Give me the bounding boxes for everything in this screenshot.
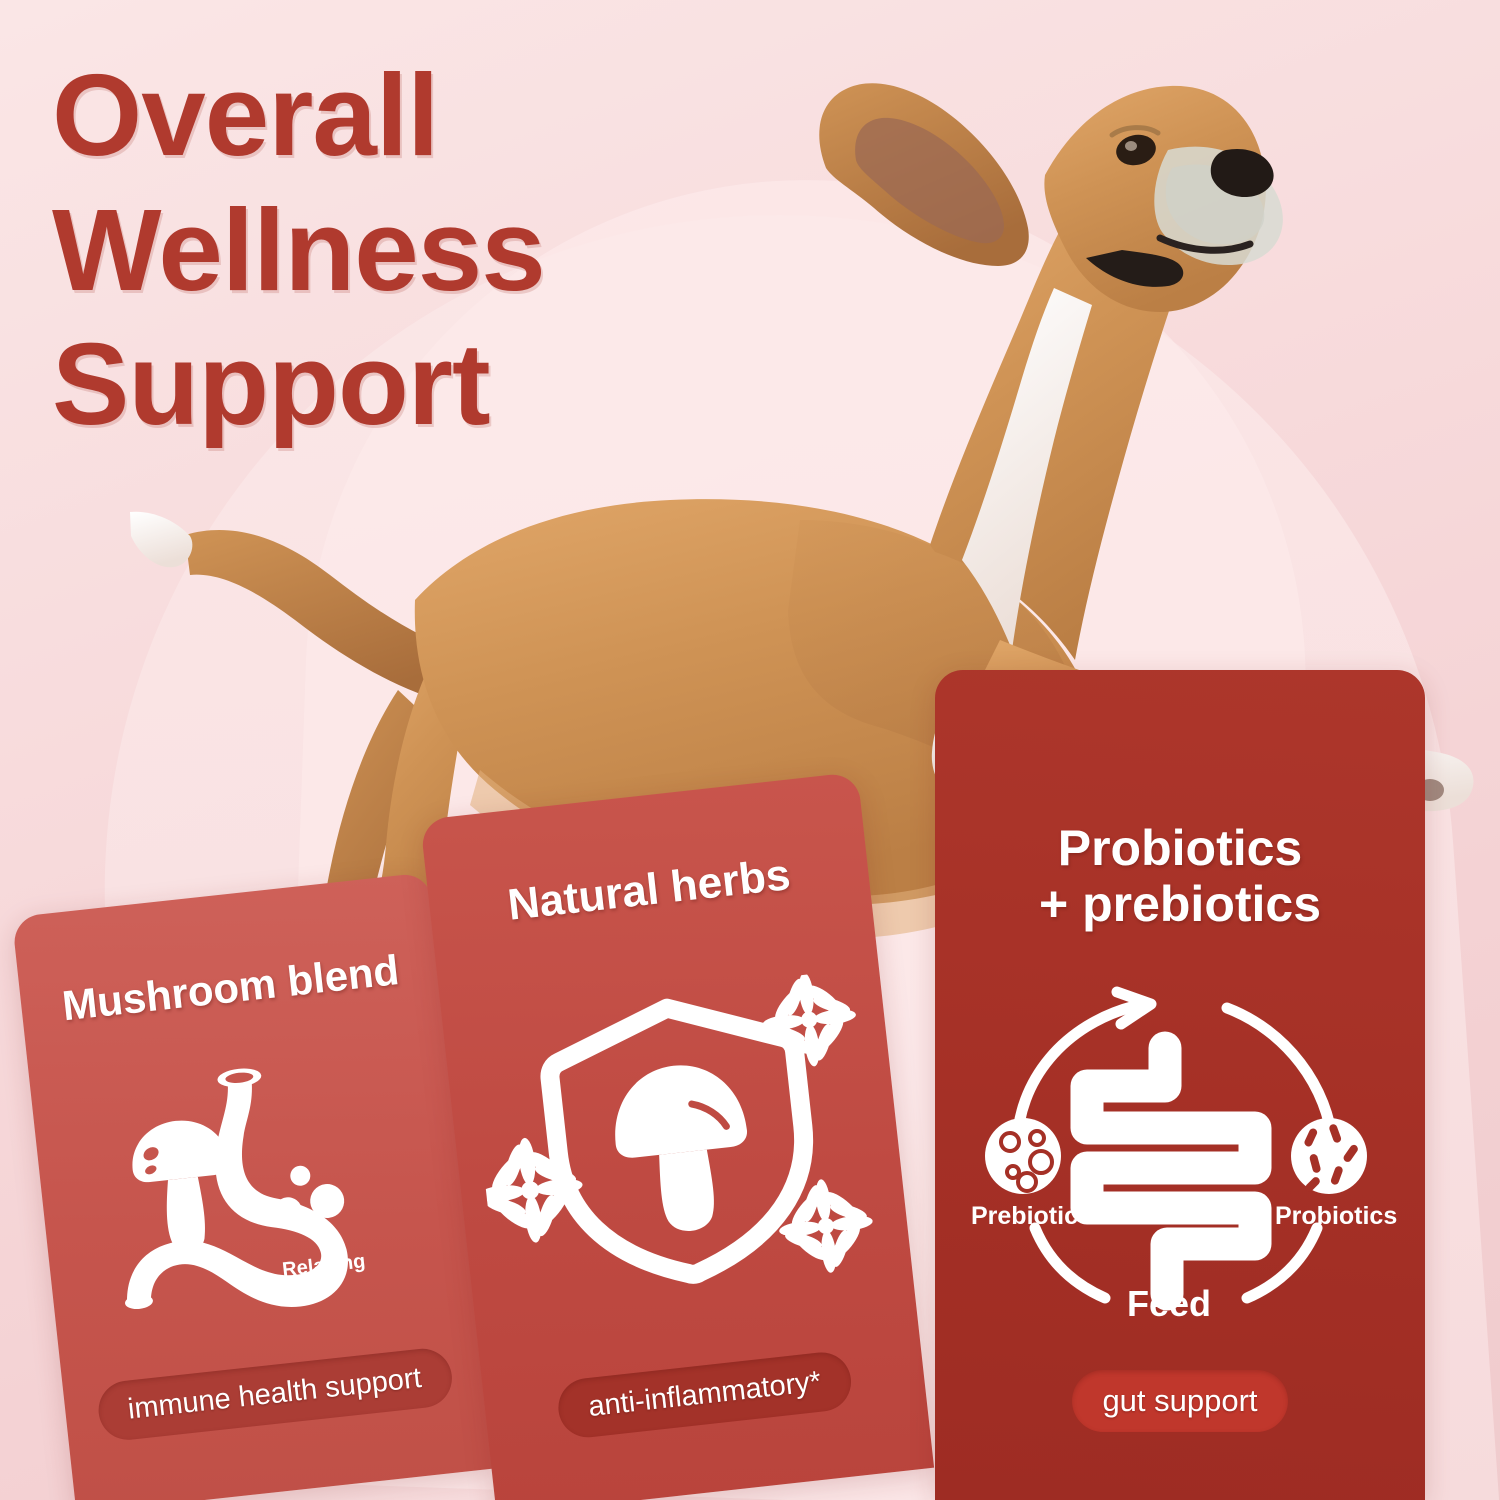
probiotics-bacteria-icon xyxy=(1291,1118,1367,1194)
card-title-probiotics-prebiotics: Probiotics + prebiotics xyxy=(1039,820,1321,932)
prebiotics-bubbles-icon xyxy=(985,1118,1061,1194)
shield-mushroom-icon-wrap xyxy=(433,890,920,1389)
stomach-mushroom-icon-wrap: Relaxing xyxy=(24,988,480,1387)
feature-card-natural-herbs[interactable]: Natural herbs xyxy=(420,772,934,1500)
prebiotics-label: Prebiotics xyxy=(971,1202,1092,1230)
feature-card-mushroom-blend[interactable]: Mushroom blend xyxy=(12,872,494,1500)
feature-card-probiotics-prebiotics[interactable]: Probiotics + prebiotics xyxy=(935,670,1425,1500)
gut-probiotic-cycle-icon-wrap: Prebiotics Probiotics Feed xyxy=(935,932,1425,1370)
headline-line-2: Wellness xyxy=(52,183,545,318)
shield-mushroom-flowers-icon xyxy=(466,970,887,1311)
stomach-mushroom-icon: Relaxing xyxy=(74,1036,431,1340)
daisy-flower-icon xyxy=(757,970,861,1072)
probiotics-label: Probiotics xyxy=(1275,1202,1397,1230)
infographic-canvas: Overall Wellness Support xyxy=(0,0,1500,1500)
daisy-flower-icon xyxy=(472,1132,588,1248)
stomach-icon-caption: Relaxing xyxy=(281,1250,366,1281)
headline-line-3: Support xyxy=(52,317,545,452)
feed-label: Feed xyxy=(1127,1283,1211,1324)
card-title-line-1: Probiotics xyxy=(1039,820,1321,876)
headline-line-1: Overall xyxy=(52,48,545,183)
page-title: Overall Wellness Support xyxy=(52,48,545,452)
card-title-line-2: + prebiotics xyxy=(1039,876,1321,932)
gut-probiotic-cycle-icon: Prebiotics Probiotics Feed xyxy=(955,976,1405,1326)
pill-gut-support[interactable]: gut support xyxy=(1072,1370,1287,1432)
